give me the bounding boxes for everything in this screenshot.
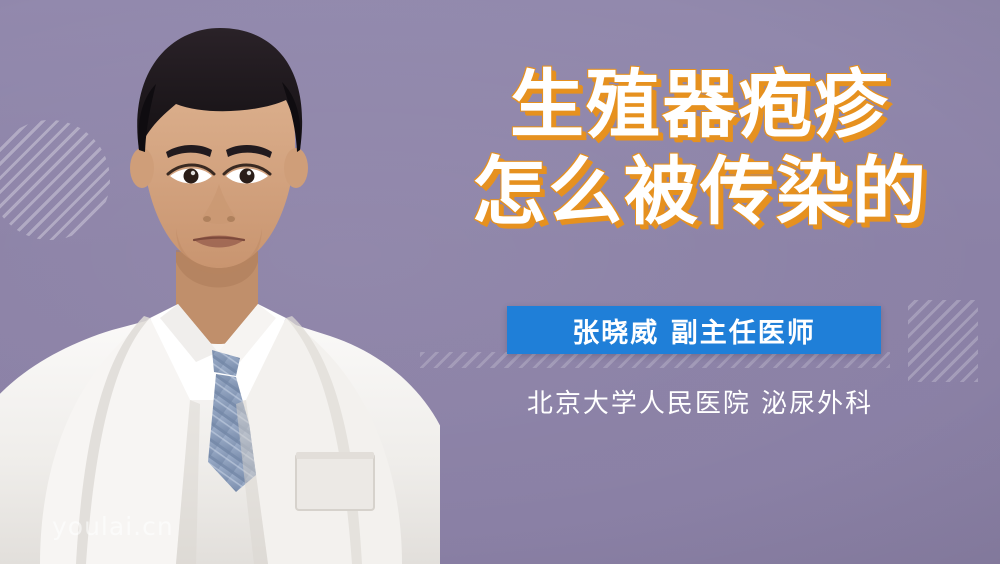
title-line-2: 怎么被传染的 bbox=[420, 149, 980, 236]
doctor-portrait bbox=[0, 0, 440, 564]
diagonal-stripe-band-icon bbox=[420, 352, 890, 368]
doctor-name-title: 张晓威 副主任医师 bbox=[572, 311, 815, 350]
title-line-1: 生殖器疱疹 bbox=[420, 62, 980, 149]
diagonal-stripe-block-icon bbox=[908, 300, 978, 382]
doctor-name-plate: 张晓威 副主任医师 bbox=[507, 306, 881, 354]
page-title: 生殖器疱疹 怎么被传染的 bbox=[420, 62, 980, 237]
site-watermark: youlai.cn bbox=[52, 512, 174, 541]
doctor-affiliation: 北京大学人民医院 泌尿外科 bbox=[420, 383, 980, 420]
thumbnail-image: 生殖器疱疹 怎么被传染的 张晓威 副主任医师 北京大学人民医院 泌尿外科 you… bbox=[0, 0, 1000, 564]
